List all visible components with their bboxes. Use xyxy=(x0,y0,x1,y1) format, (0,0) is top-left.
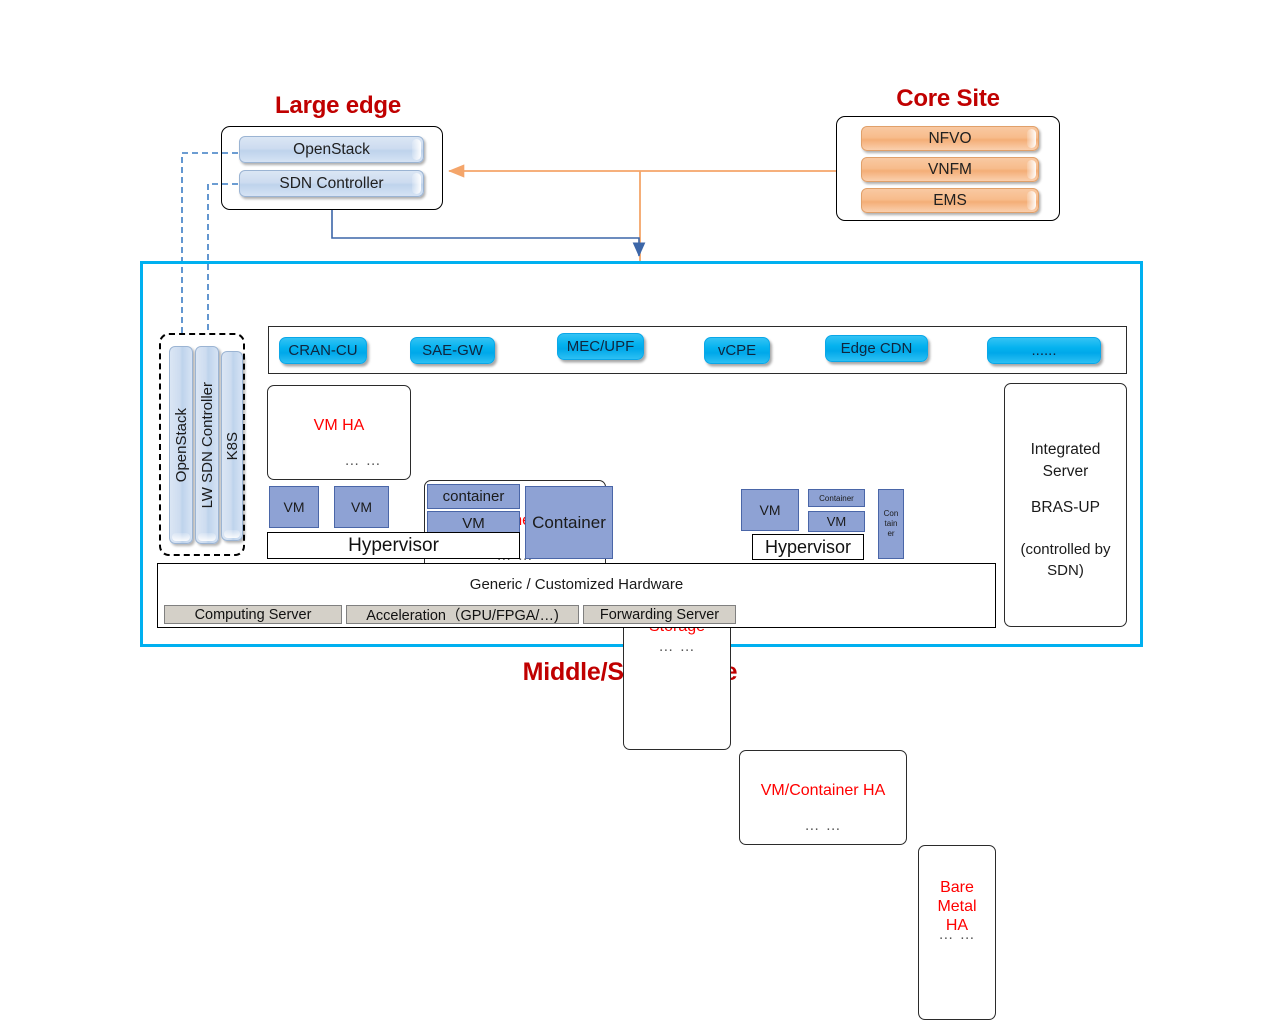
hardware-button-label: Forwarding Server xyxy=(600,607,719,623)
hypervisor-bar-right: Hypervisor xyxy=(752,534,864,560)
hardware-button-label: Computing Server xyxy=(195,607,312,623)
network-function-label: CRAN-CU xyxy=(288,342,357,359)
edge-controller-label: OpenStack xyxy=(173,408,190,482)
large-edge-item-label: OpenStack xyxy=(293,141,370,159)
vm-container-ha-title: VM/Container HA xyxy=(740,781,906,800)
container-on-vm-container-small[interactable]: Container xyxy=(808,489,865,507)
hypervisor-label: Hypervisor xyxy=(348,535,439,557)
core-site-item-ems[interactable]: EMS xyxy=(861,188,1039,213)
network-functions-strip: CRAN-CU SAE-GW MEC/UPF vCPE Edge CDN ...… xyxy=(268,326,1127,374)
hardware-title: Generic / Customized Hardware xyxy=(158,576,995,593)
container-on-vm-vm-small[interactable]: VM xyxy=(808,511,865,532)
bare-metal-ha-dots: … … xyxy=(919,926,995,943)
vm-container-ha-dots: … … xyxy=(740,817,906,834)
hardware-button-acceleration[interactable]: Acceleration（GPU/FPGA/…) xyxy=(346,605,579,624)
bare-metal-ha-box: Bare Metal HA … … xyxy=(918,845,996,1020)
vm-label: VM xyxy=(760,502,781,518)
container-label-line3: er xyxy=(887,529,894,539)
vm-instance[interactable]: VM xyxy=(741,489,799,531)
bare-metal-ha-title-line1: Bare xyxy=(919,878,995,897)
network-function-label: Edge CDN xyxy=(841,340,913,357)
hardware-button-computing-server[interactable]: Computing Server xyxy=(164,605,342,624)
integrated-server-line2: Server xyxy=(1005,461,1126,483)
vm-instance[interactable]: VM xyxy=(334,486,389,528)
page-title-large-edge: Large edge xyxy=(228,92,448,120)
hardware-bar: Generic / Customized Hardware Computing … xyxy=(157,563,996,628)
vm-label: VM xyxy=(462,515,485,532)
vm-label: VM xyxy=(351,499,372,515)
large-edge-item-openstack[interactable]: OpenStack xyxy=(239,136,424,163)
core-site-item-label: EMS xyxy=(933,192,967,210)
edge-controller-label: LW SDN Controller xyxy=(199,382,216,508)
core-site-item-label: VNFM xyxy=(928,161,972,179)
container-on-vm-container[interactable]: container xyxy=(427,484,520,509)
container-label: container xyxy=(443,488,505,505)
large-edge-item-label: SDN Controller xyxy=(279,175,383,193)
integrated-server-line1: Integrated xyxy=(1005,439,1126,461)
hypervisor-bar-left: Hypervisor xyxy=(267,532,520,559)
connector-large-edge-to-edge-box xyxy=(332,210,639,256)
network-function-more[interactable]: ...... xyxy=(987,337,1101,364)
integrated-server-box: Integrated Server BRAS-UP (controlled by… xyxy=(1004,383,1127,627)
network-function-mec-upf[interactable]: MEC/UPF xyxy=(557,333,644,360)
network-function-label: SAE-GW xyxy=(422,342,483,359)
edge-controller-k8s[interactable]: K8S xyxy=(221,351,243,541)
network-function-cran-cu[interactable]: CRAN-CU xyxy=(279,337,367,364)
vm-ha-box: VM HA … … xyxy=(267,385,411,480)
large-edge-panel: OpenStack SDN Controller xyxy=(221,126,443,210)
network-function-label: MEC/UPF xyxy=(567,338,635,355)
network-function-vcpe[interactable]: vCPE xyxy=(704,337,770,364)
vm-ha-dots: … … xyxy=(328,452,398,469)
network-function-sae-gw[interactable]: SAE-GW xyxy=(410,337,495,364)
vm-label: VM xyxy=(284,499,305,515)
integrated-server-line4: (controlled by xyxy=(1005,539,1126,560)
edge-controller-label: K8S xyxy=(224,432,241,460)
vm-container-ha-box: VM/Container HA … … xyxy=(739,750,907,845)
network-function-label: ...... xyxy=(1031,342,1056,359)
vm-label: VM xyxy=(827,514,847,529)
container-label-line1: Con xyxy=(884,509,899,519)
distributed-storage-dots: … … xyxy=(624,638,730,655)
vm-instance[interactable]: VM xyxy=(269,486,319,528)
edge-controller-openstack[interactable]: OpenStack xyxy=(169,346,193,544)
integrated-server-line3: BRAS-UP xyxy=(1005,499,1126,517)
core-site-item-label: NFVO xyxy=(928,130,971,148)
connector-core-to-large-edge xyxy=(449,171,836,261)
core-site-panel: NFVO VNFM EMS xyxy=(836,116,1060,221)
page-title-core-site: Core Site xyxy=(836,85,1060,113)
hypervisor-label: Hypervisor xyxy=(765,537,851,558)
edge-controller-group: OpenStack LW SDN Controller K8S xyxy=(159,333,245,556)
bare-metal-ha-title-line2: Metal xyxy=(919,897,995,916)
container-standalone[interactable]: Container xyxy=(525,486,613,559)
container-label: Container xyxy=(819,494,854,503)
large-edge-item-sdn-controller[interactable]: SDN Controller xyxy=(239,170,424,197)
integrated-server-line5: SDN) xyxy=(1005,560,1126,581)
container-standalone-tiny[interactable]: Con tain er xyxy=(878,489,904,559)
vm-ha-title: VM HA xyxy=(268,416,410,435)
container-label-line2: tain xyxy=(885,519,898,529)
hardware-button-forwarding-server[interactable]: Forwarding Server xyxy=(583,605,736,624)
network-function-label: vCPE xyxy=(718,342,756,359)
hardware-button-label: Acceleration（GPU/FPGA/…) xyxy=(366,604,559,625)
core-site-item-vnfm[interactable]: VNFM xyxy=(861,157,1039,182)
edge-controller-lw-sdn-controller[interactable]: LW SDN Controller xyxy=(195,346,219,544)
container-label: Container xyxy=(532,513,606,533)
core-site-item-nfvo[interactable]: NFVO xyxy=(861,126,1039,151)
network-function-edge-cdn[interactable]: Edge CDN xyxy=(825,335,928,362)
